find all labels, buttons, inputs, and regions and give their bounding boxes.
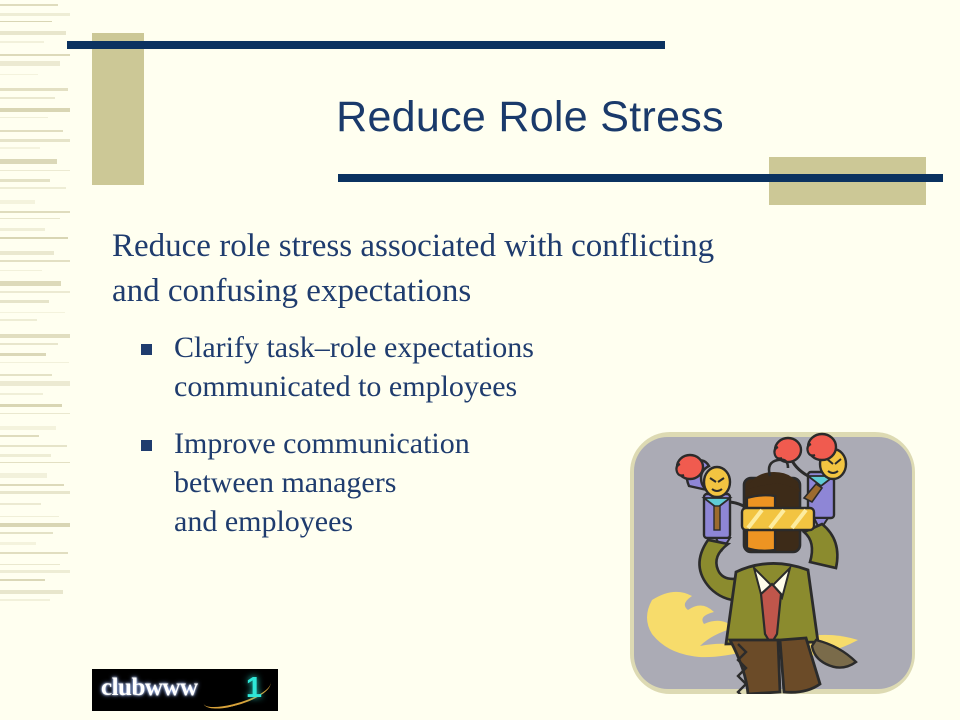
stripe-line	[0, 462, 70, 463]
page-title: Reduce Role Stress	[150, 93, 910, 142]
stripe-line	[0, 343, 58, 345]
stripe-line	[0, 31, 66, 35]
stripe-line	[0, 564, 60, 565]
clipart-artwork	[630, 432, 915, 694]
stripe-line	[0, 251, 54, 255]
stripe-line	[0, 426, 56, 430]
stripe-line	[0, 454, 51, 457]
stripe-line	[0, 353, 46, 356]
stripe-line	[0, 159, 57, 164]
square-bullet-icon	[141, 440, 152, 451]
stripe-line	[0, 281, 61, 286]
stripe-line	[0, 435, 39, 437]
stripe-line	[0, 445, 67, 447]
stripe-line	[0, 374, 52, 376]
clubwww1-logo[interactable]: clubwww 1	[92, 669, 278, 711]
stripe-line	[0, 41, 44, 43]
stripe-line	[0, 404, 62, 407]
stripe-line	[0, 413, 70, 414]
stripe-line	[0, 187, 66, 189]
lead-paragraph: Reduce role stress associated with confl…	[112, 224, 732, 314]
stripe-line	[0, 179, 50, 182]
stripe-line	[0, 170, 70, 171]
stripe-line	[0, 312, 65, 313]
stripe-line	[0, 200, 35, 204]
stripe-line	[0, 228, 45, 231]
stripe-line	[0, 362, 69, 363]
navy-rule-bottom	[338, 174, 943, 182]
stripe-line	[0, 237, 68, 239]
list-item-line: Clarify task–role expectations	[174, 328, 714, 367]
left-stripe-decoration	[0, 0, 70, 720]
stripe-line	[0, 523, 70, 527]
logo-wordmark: clubwww	[101, 674, 198, 702]
stripe-line	[0, 291, 70, 293]
stripe-line	[0, 542, 36, 545]
list-item-line: communicated to employees	[174, 367, 714, 406]
slide: Reduce Role Stress Reduce role stress as…	[0, 0, 960, 720]
logo-numeral: 1	[246, 672, 262, 705]
stripe-line	[0, 503, 41, 505]
stripe-line	[0, 130, 63, 132]
stripe-line	[0, 552, 68, 554]
stripe-line	[0, 334, 70, 338]
stripe-line	[0, 516, 59, 517]
stripe-line	[0, 599, 50, 601]
stripe-line	[0, 117, 48, 118]
stripe-line	[0, 88, 68, 91]
stripe-line	[0, 532, 53, 534]
stripe-line	[0, 260, 70, 262]
stripe-line	[0, 218, 60, 219]
navy-rule-top	[67, 41, 665, 49]
stripe-line	[0, 491, 70, 494]
logo-swoosh-icon	[200, 673, 274, 711]
stripe-line	[0, 74, 38, 75]
square-bullet-icon	[141, 344, 152, 355]
stripe-line	[0, 147, 40, 149]
stripe-line	[0, 13, 70, 16]
stripe-line	[0, 97, 55, 99]
stripe-line	[0, 381, 70, 386]
stripe-line	[0, 319, 37, 321]
tan-accent-block-left	[92, 33, 144, 185]
stripe-line	[0, 54, 70, 56]
stripe-line	[0, 570, 70, 573]
stripe-line	[0, 300, 49, 303]
stripe-line	[0, 61, 60, 66]
stripe-line	[0, 473, 47, 478]
stripe-line	[0, 484, 64, 486]
stripe-line	[0, 108, 70, 112]
stripe-line	[0, 211, 70, 213]
list-item: Clarify task–role expectationscommunicat…	[174, 328, 714, 406]
stripe-line	[0, 590, 63, 594]
clipart-manager-boxing-employees	[630, 432, 915, 694]
stripe-line	[0, 139, 70, 142]
stripe-line	[0, 579, 45, 581]
stripe-line	[0, 4, 58, 6]
stripe-line	[0, 21, 52, 22]
stripe-line	[0, 393, 43, 395]
stripe-line	[0, 270, 42, 271]
